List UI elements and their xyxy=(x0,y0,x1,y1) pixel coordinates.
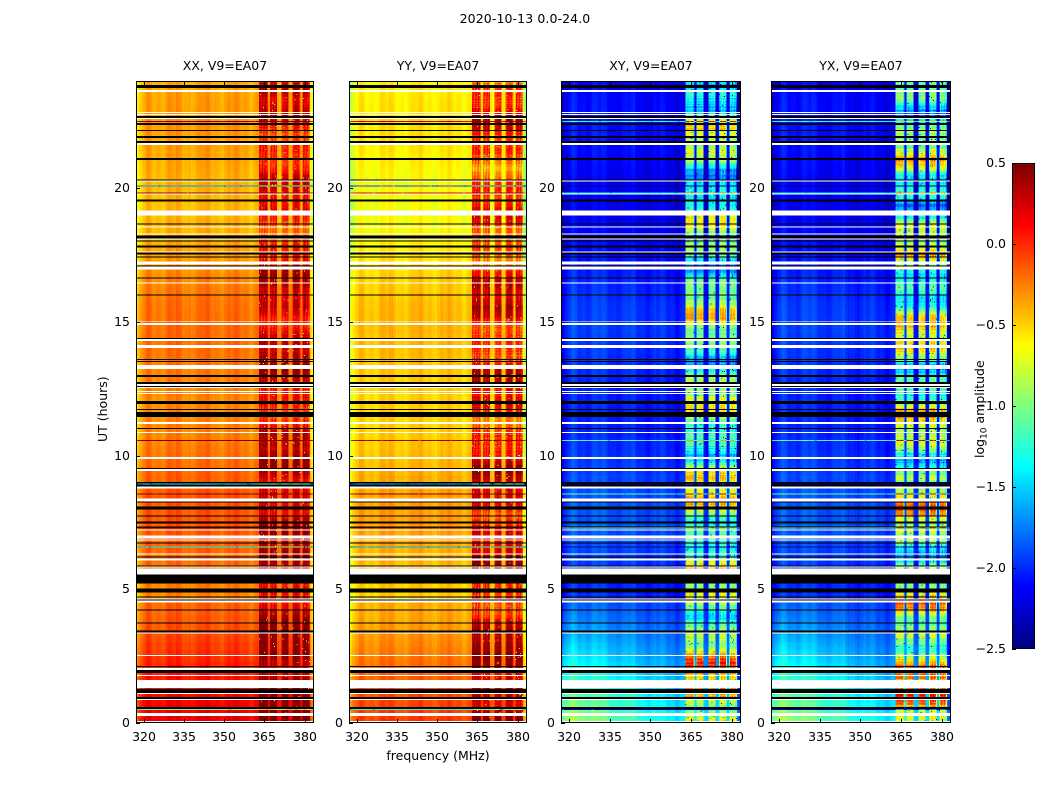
yticklabel-yy-4: 20 xyxy=(301,180,343,195)
yticklabel-yx-3: 15 xyxy=(723,314,765,329)
ytick-xx-4 xyxy=(136,188,140,189)
ytick-xy-0 xyxy=(561,723,565,724)
yticklabel-xy-2: 10 xyxy=(513,448,555,463)
xticklabel-xx-4: 380 xyxy=(280,729,330,744)
ytick-yx-4 xyxy=(771,188,775,189)
ytick-yy-4 xyxy=(349,188,353,189)
waterfall-image-yx xyxy=(772,82,950,722)
yticklabel-xy-0: 0 xyxy=(513,715,555,730)
ytick-yy-0 xyxy=(349,723,353,724)
yticklabel-xx-4: 20 xyxy=(88,180,130,195)
ytick-xx-0 xyxy=(136,723,140,724)
colorbar-tick-1 xyxy=(1012,568,1016,569)
ytick-xy-2 xyxy=(561,456,565,457)
xtick-top-yy-0 xyxy=(357,81,358,85)
colorbar-ticklabel-6: 0.5 xyxy=(958,155,1006,170)
colorbar-ticklabel-2: −1.5 xyxy=(958,479,1006,494)
xtick-xy-0 xyxy=(569,719,570,723)
yticklabel-xy-3: 15 xyxy=(513,314,555,329)
yticklabel-xx-3: 15 xyxy=(88,314,130,329)
ytick-xx-2 xyxy=(136,456,140,457)
xtick-top-xx-4 xyxy=(305,81,306,85)
yticklabel-yy-3: 15 xyxy=(301,314,343,329)
ytick-yx-2 xyxy=(771,456,775,457)
xtick-yy-0 xyxy=(357,719,358,723)
ytick-yy-1 xyxy=(349,589,353,590)
yticklabel-yx-4: 20 xyxy=(723,180,765,195)
xtick-top-yx-1 xyxy=(820,81,821,85)
x-axis-label: frequency (MHz) xyxy=(309,748,567,763)
ytick-yy-3 xyxy=(349,322,353,323)
yticklabel-yy-0: 0 xyxy=(301,715,343,730)
waterfall-panel-xx xyxy=(136,81,314,723)
colorbar-ticklabel-5: 0.0 xyxy=(958,236,1006,251)
ytick-yy-2 xyxy=(349,456,353,457)
yticklabel-xy-1: 5 xyxy=(513,581,555,596)
colorbar-label-suffix: amplitude xyxy=(972,360,987,427)
ytick-xy-1 xyxy=(561,589,565,590)
xticklabel-xy-4: 380 xyxy=(707,729,757,744)
ytick-xx-1 xyxy=(136,589,140,590)
xtick-top-xx-1 xyxy=(184,81,185,85)
yticklabel-xx-2: 10 xyxy=(88,448,130,463)
xtick-top-yx-4 xyxy=(942,81,943,85)
waterfall-image-yy xyxy=(350,82,526,722)
yticklabel-yx-2: 10 xyxy=(723,448,765,463)
waterfall-panel-yx xyxy=(771,81,951,723)
xtick-yx-0 xyxy=(779,719,780,723)
xtick-top-xy-4 xyxy=(732,81,733,85)
xtick-yy-2 xyxy=(437,719,438,723)
waterfall-panel-yy xyxy=(349,81,527,723)
ytick-yx-1 xyxy=(771,589,775,590)
xtick-top-yx-2 xyxy=(860,81,861,85)
figure-title: 2020-10-13 0.0-24.0 xyxy=(0,11,1050,26)
colorbar-ticklabel-0: −2.5 xyxy=(958,641,1006,656)
xtick-xy-3 xyxy=(691,719,692,723)
yticklabel-xx-1: 5 xyxy=(88,581,130,596)
xtick-xx-2 xyxy=(224,719,225,723)
ytick-xy-3 xyxy=(561,322,565,323)
xtick-top-yy-3 xyxy=(477,81,478,85)
y-axis-label: UT (hours) xyxy=(95,376,110,442)
ytick-yx-0 xyxy=(771,723,775,724)
xtick-top-xy-3 xyxy=(691,81,692,85)
xtick-top-xy-2 xyxy=(650,81,651,85)
yticklabel-yy-1: 5 xyxy=(301,581,343,596)
xticklabel-yy-4: 380 xyxy=(493,729,543,744)
xtick-yx-2 xyxy=(860,719,861,723)
colorbar-gradient xyxy=(1013,164,1034,648)
waterfall-image-xy xyxy=(562,82,740,722)
yticklabel-xx-0: 0 xyxy=(88,715,130,730)
xtick-top-xx-2 xyxy=(224,81,225,85)
colorbar-tick-3 xyxy=(1012,406,1016,407)
xtick-xy-2 xyxy=(650,719,651,723)
xtick-top-xx-0 xyxy=(144,81,145,85)
xtick-top-yy-2 xyxy=(437,81,438,85)
xtick-xx-1 xyxy=(184,719,185,723)
xtick-top-yy-4 xyxy=(518,81,519,85)
colorbar-tick-4 xyxy=(1012,325,1016,326)
xtick-xy-1 xyxy=(610,719,611,723)
yticklabel-yy-2: 10 xyxy=(301,448,343,463)
xtick-top-xy-1 xyxy=(610,81,611,85)
colorbar-tick-6 xyxy=(1012,163,1016,164)
yticklabel-yx-1: 5 xyxy=(723,581,765,596)
xtick-yy-3 xyxy=(477,719,478,723)
ytick-xx-3 xyxy=(136,322,140,323)
waterfall-panel-xy xyxy=(561,81,741,723)
xtick-yx-3 xyxy=(901,719,902,723)
xtick-top-xx-3 xyxy=(264,81,265,85)
xtick-top-yx-3 xyxy=(901,81,902,85)
xtick-top-yy-1 xyxy=(397,81,398,85)
figure-canvas: 2020-10-13 0.0-24.0 XX, V9=EA07320335350… xyxy=(0,0,1050,800)
colorbar-ticklabel-1: −2.0 xyxy=(958,560,1006,575)
colorbar-tick-0 xyxy=(1012,649,1016,650)
panel-title-yx: YX, V9=EA07 xyxy=(731,58,991,73)
colorbar-tick-2 xyxy=(1012,487,1016,488)
xtick-xx-3 xyxy=(264,719,265,723)
xtick-xx-0 xyxy=(144,719,145,723)
colorbar-label-prefix: log xyxy=(972,439,987,458)
colorbar-label-subscript: 10 xyxy=(979,427,989,438)
xtick-top-xy-0 xyxy=(569,81,570,85)
xtick-yx-1 xyxy=(820,719,821,723)
colorbar-label: log10 amplitude xyxy=(972,360,989,458)
yticklabel-xy-4: 20 xyxy=(513,180,555,195)
xticklabel-yx-4: 380 xyxy=(917,729,967,744)
waterfall-image-xx xyxy=(137,82,313,722)
xtick-yx-4 xyxy=(942,719,943,723)
xtick-yy-1 xyxy=(397,719,398,723)
colorbar-ticklabel-4: −0.5 xyxy=(958,317,1006,332)
ytick-xy-4 xyxy=(561,188,565,189)
ytick-yx-3 xyxy=(771,322,775,323)
colorbar-tick-5 xyxy=(1012,244,1016,245)
xtick-top-yx-0 xyxy=(779,81,780,85)
yticklabel-yx-0: 0 xyxy=(723,715,765,730)
